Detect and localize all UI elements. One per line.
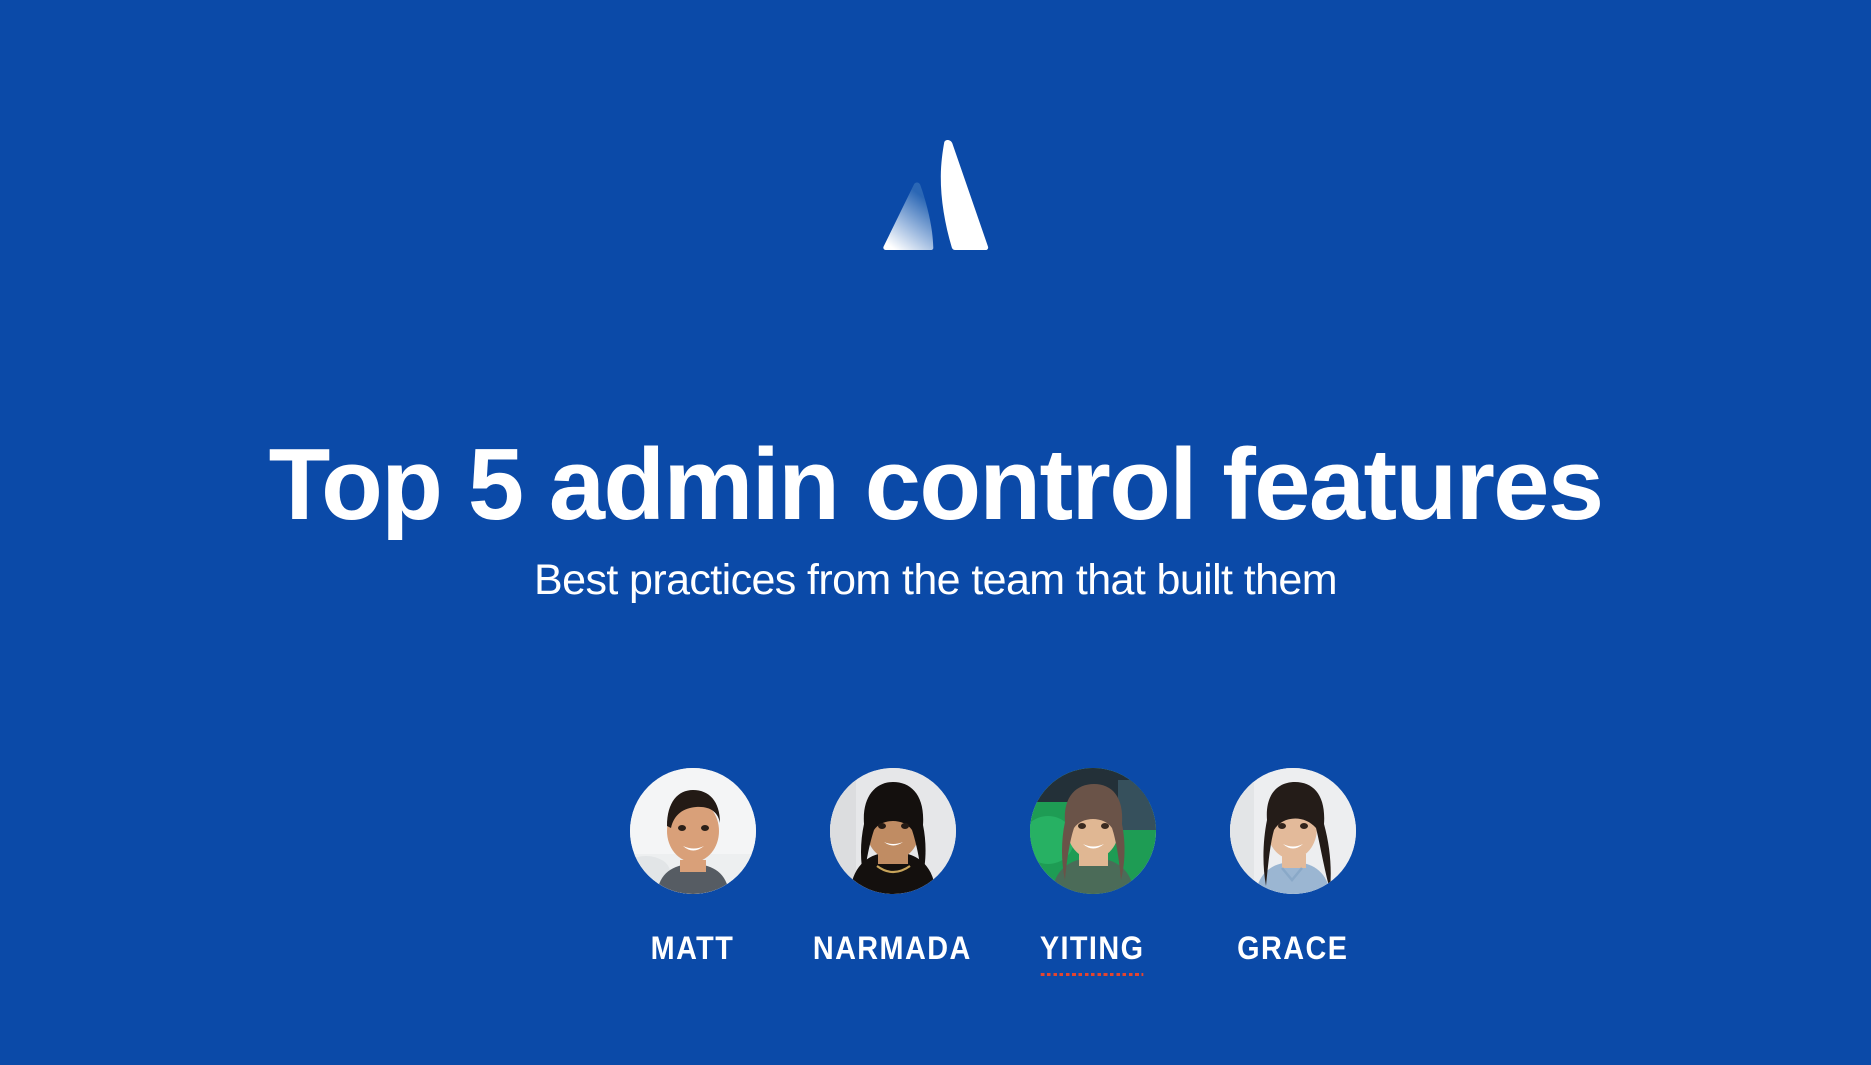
avatar-grace (1230, 768, 1356, 894)
page-title: Top 5 admin control features (0, 432, 1871, 539)
avatar-photo (1230, 768, 1356, 894)
presenter-list: MATT NARMADA (0, 768, 1871, 964)
atlassian-logo-mark (883, 138, 989, 250)
presenter-name: GRACE (1237, 932, 1348, 964)
avatar-photo (630, 768, 756, 894)
presenter-name: MATT (651, 932, 735, 964)
presenter-name: NARMADA (813, 932, 972, 964)
avatar-photo (1030, 768, 1156, 894)
avatar-matt (630, 768, 756, 894)
headline-block: Top 5 admin control features Best practi… (0, 432, 1871, 607)
atlassian-logo (0, 138, 1871, 254)
presenter-item: MATT (630, 768, 756, 964)
page-subtitle: Best practices from the team that built … (0, 555, 1871, 607)
presenter-item: YITING (1030, 768, 1156, 964)
avatar-yiting (1030, 768, 1156, 894)
avatar-photo (830, 768, 956, 894)
avatar-narmada (830, 768, 956, 894)
presenter-name: YITING (1040, 932, 1145, 964)
presenter-item: GRACE (1230, 768, 1356, 964)
title-slide: Top 5 admin control features Best practi… (0, 0, 1871, 1065)
presenter-item: NARMADA (830, 768, 956, 964)
